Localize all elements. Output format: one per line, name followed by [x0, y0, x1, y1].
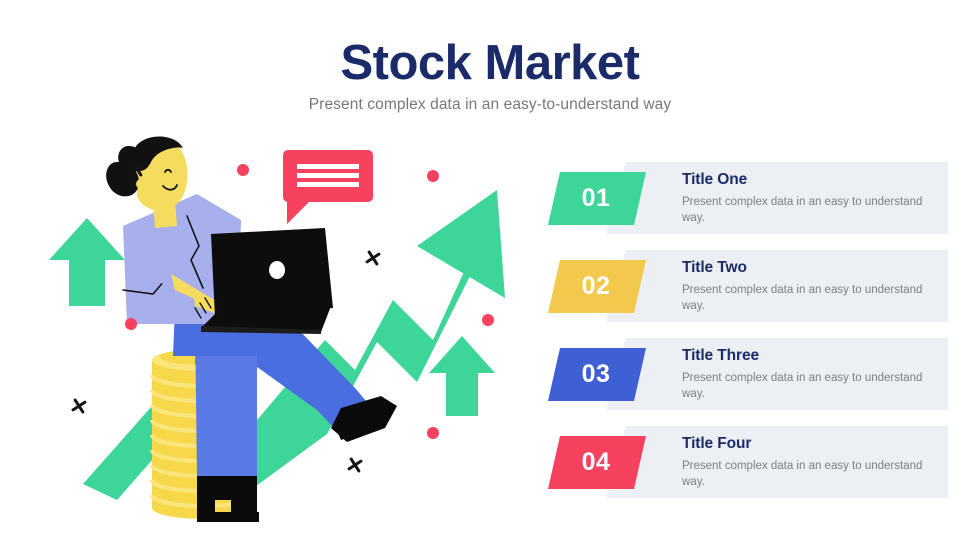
upward-arrow-right-icon — [429, 336, 495, 416]
list-item-number-badge: 01 — [548, 172, 646, 225]
laptop-icon — [201, 228, 333, 334]
list-item-text: Title One Present complex data in an eas… — [682, 171, 932, 227]
list-item-text: Title Four Present complex data in an ea… — [682, 435, 932, 491]
slide-header: Stock Market Present complex data in an … — [0, 38, 980, 114]
list-item-description: Present complex data in an easy to under… — [682, 370, 932, 403]
page-subtitle: Present complex data in an easy-to-under… — [0, 96, 980, 114]
page-title: Stock Market — [0, 38, 980, 89]
list-item[interactable]: 04 Title Four Present complex data in an… — [548, 426, 948, 498]
list-item-description: Present complex data in an easy to under… — [682, 194, 932, 227]
stock-market-illustration — [25, 128, 545, 548]
list-item-number: 03 — [582, 360, 611, 389]
list-item-text: Title Three Present complex data in an e… — [682, 347, 932, 403]
list-item[interactable]: 02 Title Two Present complex data in an … — [548, 250, 948, 322]
list-item-number-badge: 04 — [548, 436, 646, 489]
list-item-text: Title Two Present complex data in an eas… — [682, 259, 932, 315]
list-item-title: Title Three — [682, 347, 932, 365]
list-item-number: 01 — [582, 184, 611, 213]
list-item-title: Title One — [682, 171, 932, 189]
slide-canvas: Stock Market Present complex data in an … — [0, 0, 980, 551]
list-item-number-badge: 02 — [548, 260, 646, 313]
upward-arrow-left-icon — [49, 218, 125, 306]
list-item-title: Title Four — [682, 435, 932, 453]
list-item-description: Present complex data in an easy to under… — [682, 282, 932, 315]
list-item[interactable]: 03 Title Three Present complex data in a… — [548, 338, 948, 410]
list-item-description: Present complex data in an easy to under… — [682, 458, 932, 491]
list-item-title: Title Two — [682, 259, 932, 277]
list-item-number-badge: 03 — [548, 348, 646, 401]
feature-list: 01 Title One Present complex data in an … — [548, 162, 948, 512]
list-item[interactable]: 01 Title One Present complex data in an … — [548, 162, 948, 234]
list-item-number: 02 — [582, 272, 611, 301]
list-item-number: 04 — [582, 448, 611, 477]
speech-bubble-icon — [283, 150, 373, 224]
